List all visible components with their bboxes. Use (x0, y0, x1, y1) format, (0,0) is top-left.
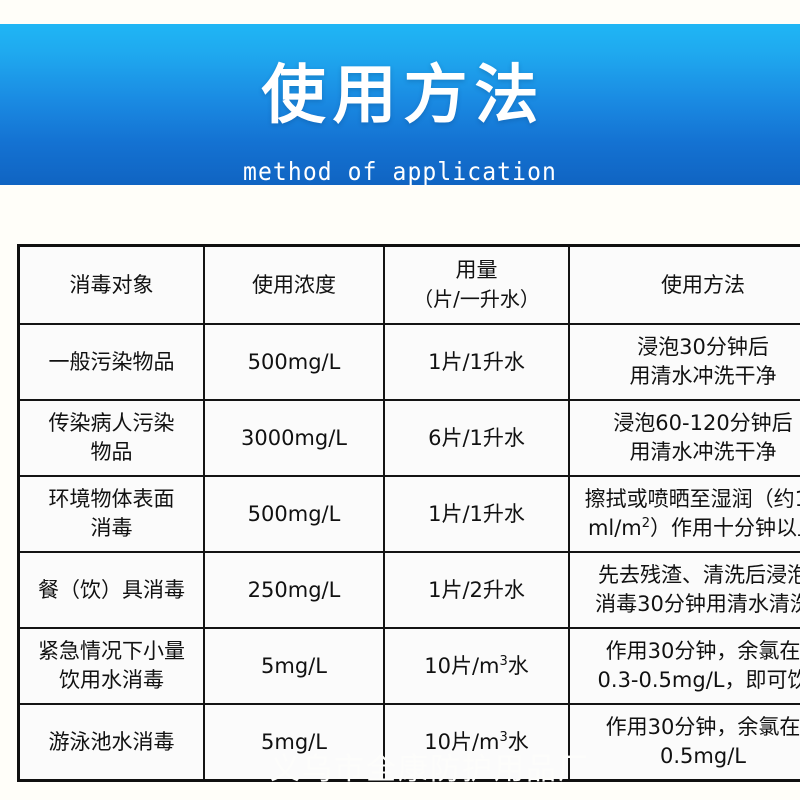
cell-concentration: 500mg/L (204, 476, 384, 552)
cell-method-line1: 浸泡30分钟后 (576, 333, 800, 362)
cell-dose: 1片/2升水 (384, 552, 569, 628)
cell-method-line2: 0.3-0.5mg/L，即可饮 (576, 666, 800, 695)
header-cell-method: 使用方法 (569, 246, 800, 325)
cell-target-line1: 紧急情况下小量 (26, 637, 197, 666)
header-cell-target: 消毒对象 (19, 246, 205, 325)
table-row: 餐（饮）具消毒 250mg/L 1片/2升水 先去残渣、清洗后浸泡 消毒30分钟… (19, 552, 800, 628)
cell-method-line1: 作用30分钟，余氯在 (576, 713, 800, 742)
cell-method-line2: 用清水冲洗干净 (576, 362, 800, 391)
cell-target-line1: 一般污染物品 (26, 348, 197, 377)
cell-method: 先去残渣、清洗后浸泡 消毒30分钟用清水清洗 (569, 552, 800, 628)
cell-method-line3: ml/m2）作用十分钟以上 (576, 514, 800, 543)
header-cell-concentration: 使用浓度 (204, 246, 384, 325)
cell-dose-text: 10片/m (424, 730, 499, 754)
header-cell-dose: 用量 （片/一升水） (384, 246, 569, 325)
cell-dose-text: 1片/1升水 (428, 502, 525, 526)
cell-method-line1: 先去残渣、清洗后浸泡 (576, 561, 800, 590)
cell-method: 浸泡30分钟后 用清水冲洗干净 (569, 324, 800, 400)
cell-target-line2: 消毒 (26, 514, 197, 543)
cell-target-line1: 餐（饮）具消毒 (26, 576, 197, 605)
header-banner: 使用方法 method of application (0, 24, 800, 185)
cell-target-line1: 环境物体表面 (26, 485, 197, 514)
table-row: 传染病人污染 物品 3000mg/L 6片/1升水 浸泡60-120分钟后 用清… (19, 400, 800, 476)
cell-dose-suffix: 水 (508, 654, 529, 678)
cell-dose-suffix: 水 (508, 730, 529, 754)
usage-table-container: 消毒对象 使用浓度 用量 （片/一升水） 使用方法 一般污染物品 500mg/L… (17, 244, 785, 782)
usage-table: 消毒对象 使用浓度 用量 （片/一升水） 使用方法 一般污染物品 500mg/L… (17, 244, 800, 782)
cell-method: 擦拭或喷晒至湿润（约10 ml/m2）作用十分钟以上 (569, 476, 800, 552)
table-row: 一般污染物品 500mg/L 1片/1升水 浸泡30分钟后 用清水冲洗干净 (19, 324, 800, 400)
cell-target: 传染病人污染 物品 (19, 400, 205, 476)
cell-target-line2: 物品 (26, 438, 197, 467)
cell-target-line2: 饮用水消毒 (26, 666, 197, 695)
cell-method-line1: 作用30分钟，余氯在 (576, 637, 800, 666)
cell-target: 一般污染物品 (19, 324, 205, 400)
cell-dose-text: 10片/m (424, 654, 499, 678)
cell-dose: 1片/1升水 (384, 476, 569, 552)
cell-dose-superscript: 3 (499, 654, 507, 669)
cell-method-line1: 擦拭或喷晒至湿润（约10 (576, 485, 800, 514)
cell-method-line2: 用清水冲洗干净 (576, 438, 800, 467)
cell-method: 作用30分钟，余氯在 0.3-0.5mg/L，即可饮 (569, 628, 800, 704)
cell-target-line1: 传染病人污染 (26, 409, 197, 438)
cell-method-sup-pre: ml/m (588, 516, 642, 540)
cell-method-line2: 消毒30分钟用清水清洗 (576, 590, 800, 619)
page-subtitle: method of application (32, 157, 768, 185)
table-row: 环境物体表面 消毒 500mg/L 1片/1升水 擦拭或喷晒至湿润（约10 ml… (19, 476, 800, 552)
cell-method-sup-post: ）作用十分钟以上 (650, 516, 800, 540)
cell-target: 餐（饮）具消毒 (19, 552, 205, 628)
watermark-text: 义乌市全康防护用品厂 (120, 752, 740, 788)
cell-target: 紧急情况下小量 饮用水消毒 (19, 628, 205, 704)
header-cell-dose-sub: （片/一升水） (391, 285, 562, 314)
cell-concentration: 250mg/L (204, 552, 384, 628)
table-header-row: 消毒对象 使用浓度 用量 （片/一升水） 使用方法 (19, 246, 800, 325)
cell-method-line1: 浸泡60-120分钟后 (576, 409, 800, 438)
cell-dose: 6片/1升水 (384, 400, 569, 476)
usage-table-body: 消毒对象 使用浓度 用量 （片/一升水） 使用方法 一般污染物品 500mg/L… (19, 246, 800, 781)
cell-concentration: 3000mg/L (204, 400, 384, 476)
table-row: 紧急情况下小量 饮用水消毒 5mg/L 10片/m3水 作用30分钟，余氯在 0… (19, 628, 800, 704)
cell-dose-text: 1片/2升水 (428, 578, 525, 602)
cell-method-superscript: 2 (642, 516, 650, 531)
cell-target: 环境物体表面 消毒 (19, 476, 205, 552)
cell-dose: 1片/1升水 (384, 324, 569, 400)
cell-dose-text: 6片/1升水 (428, 426, 525, 450)
cell-dose: 10片/m3水 (384, 628, 569, 704)
header-cell-dose-main: 用量 (391, 256, 562, 285)
cell-dose-superscript: 3 (499, 730, 507, 745)
cell-concentration: 500mg/L (204, 324, 384, 400)
cell-dose-text: 1片/1升水 (428, 350, 525, 374)
cell-method: 浸泡60-120分钟后 用清水冲洗干净 (569, 400, 800, 476)
page-title: 使用方法 (0, 60, 800, 132)
cell-concentration: 5mg/L (204, 628, 384, 704)
